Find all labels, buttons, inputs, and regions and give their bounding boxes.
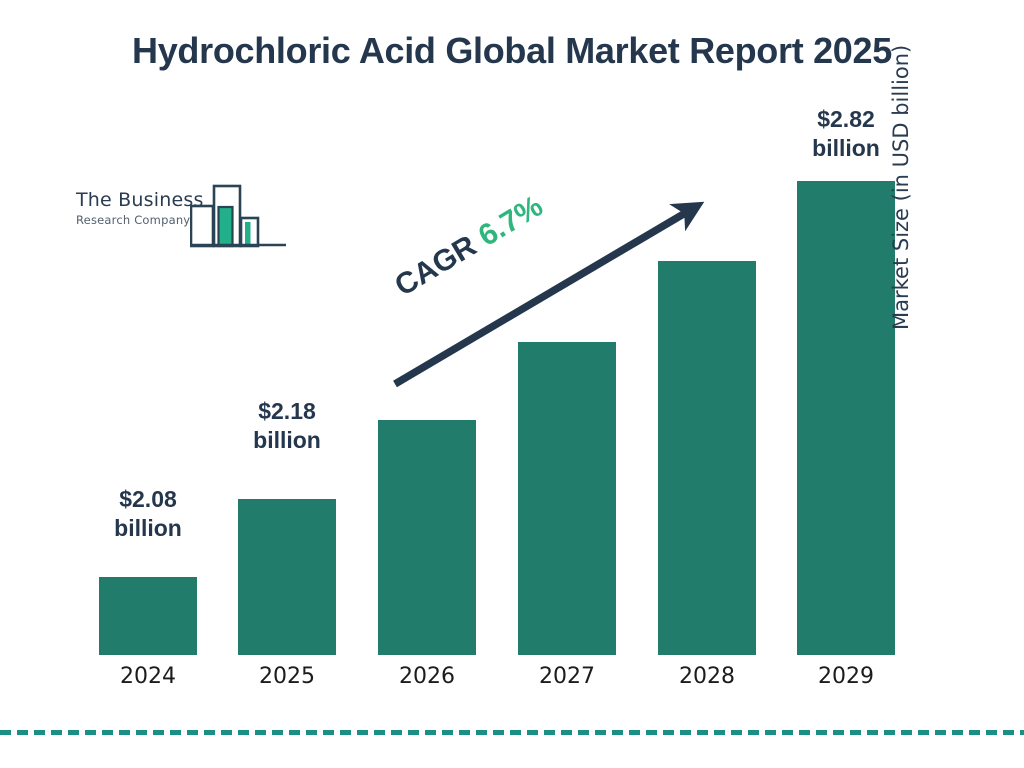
cagr-value: 6.7% [473,190,549,253]
value-label-2024-amount: $2.08 [119,486,177,512]
bar-2024 [99,577,197,655]
x-tick-2026: 2026 [378,664,476,689]
x-tick-2029: 2029 [797,664,895,689]
y-axis-title: Market Size (in USD billion) [889,0,913,330]
bar-2026 [378,420,476,655]
x-tick-2027: 2027 [518,664,616,689]
value-label-2024-unit: billion [78,514,218,543]
cagr-annotation: CAGR6.7% [389,190,549,304]
x-tick-2025: 2025 [238,664,336,689]
cagr-label: CAGR [389,229,482,303]
value-label-2025-unit: billion [217,426,357,455]
bar-2027 [518,342,616,655]
value-label-2025-amount: $2.18 [258,398,316,424]
bar-2025 [238,499,336,655]
x-tick-2024: 2024 [99,664,197,689]
value-label-2029-amount: $2.82 [817,106,875,132]
bar-2029 [797,181,895,655]
value-label-2024: $2.08 billion [78,485,218,543]
bar-2028 [658,261,756,655]
x-tick-2028: 2028 [658,664,756,689]
bottom-dashed-divider [0,730,1024,735]
report-page: Hydrochloric Acid Global Market Report 2… [0,0,1024,768]
value-label-2025: $2.18 billion [217,397,357,455]
bar-chart: $2.08 billion $2.18 billion $2.82 billio… [0,0,1024,768]
